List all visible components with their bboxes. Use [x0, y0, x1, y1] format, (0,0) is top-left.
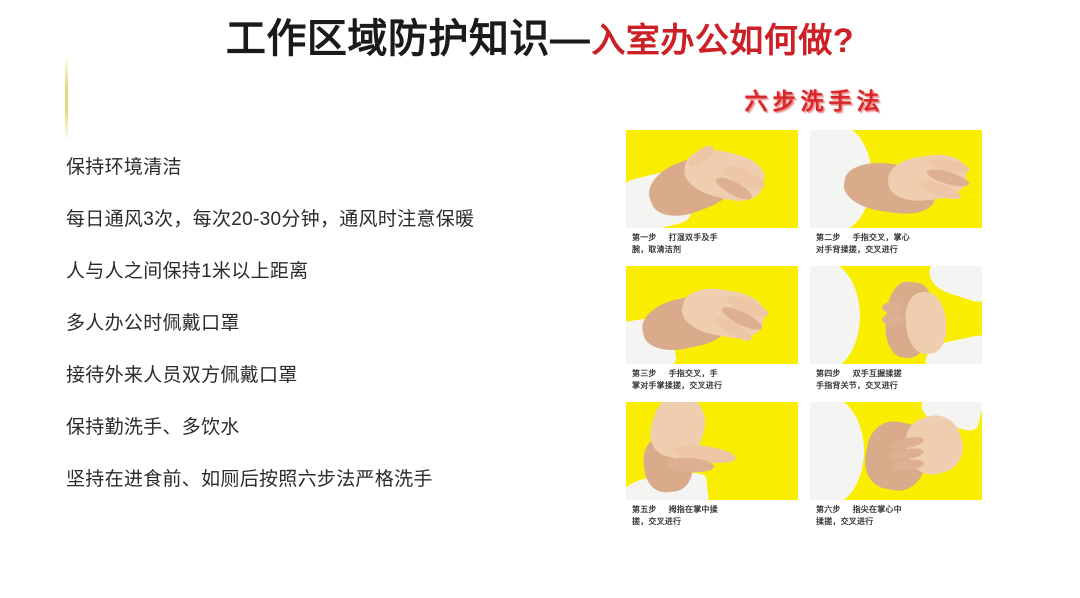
handwashing-caption-1: 第一步打湿双手及手 腕，取清洁剂: [626, 228, 798, 260]
step-label: 第四步: [816, 369, 841, 378]
handwashing-step-2: 第二步手指交叉，掌心 对手背揉搓，交叉进行: [810, 130, 982, 260]
list-item: 每日通风3次，每次20-30分钟，通风时注意保暖: [66, 210, 596, 229]
poster-title: 六步洗手法: [612, 82, 1012, 113]
step-label: 第六步: [816, 505, 841, 514]
handwashing-step-1: 第一步打湿双手及手 腕，取清洁剂: [626, 130, 798, 260]
list-item: 接待外来人员双方佩戴口罩: [66, 366, 596, 385]
list-item: 人与人之间保持1米以上距离: [66, 262, 596, 281]
handwashing-caption-4: 第四步双手互握揉搓 手指背关节，交叉进行: [810, 364, 982, 396]
page-title-main: 工作区域防护知识—: [226, 19, 591, 59]
handwashing-caption-5: 第五步拇指在掌中揉 搓，交叉进行: [626, 500, 798, 532]
handwashing-step-grid: 第一步打湿双手及手 腕，取清洁剂 第二步手指交叉，掌心 对手背揉搓，交叉进行: [626, 130, 982, 532]
step-text-line2: 腕，取清洁剂: [632, 245, 681, 254]
handwashing-photo-4: [810, 266, 982, 364]
guidance-list: 保持环境清洁 每日通风3次，每次20-30分钟，通风时注意保暖 人与人之间保持1…: [66, 158, 596, 489]
page-title: 工作区域防护知识—入室办公如何做?: [0, 8, 1080, 70]
handwashing-photo-1: [626, 130, 798, 228]
handwashing-photo-6: [810, 402, 982, 500]
step-text-line2: 手指背关节，交叉进行: [816, 381, 898, 390]
handwashing-caption-6: 第六步指尖在掌心中 揉搓，交叉进行: [810, 500, 982, 532]
step-text-line2: 掌对手掌揉搓，交叉进行: [632, 381, 722, 390]
list-item: 保持勤洗手、多饮水: [66, 418, 596, 437]
step-text-line1: 手指交叉，手: [669, 369, 718, 378]
step-text-line1: 拇指在掌中揉: [669, 505, 718, 514]
handwashing-photo-3: [626, 266, 798, 364]
handwashing-caption-2: 第二步手指交叉，掌心 对手背揉搓，交叉进行: [810, 228, 982, 260]
page-title-accent: 入室办公如何做?: [591, 24, 854, 58]
handwashing-step-4: 第四步双手互握揉搓 手指背关节，交叉进行: [810, 266, 982, 396]
handwashing-step-6: 第六步指尖在掌心中 揉搓，交叉进行: [810, 402, 982, 532]
step-label: 第五步: [632, 505, 657, 514]
handwashing-photo-2: [810, 130, 982, 228]
step-text-line2: 搓，交叉进行: [632, 517, 681, 526]
step-text-line1: 手指交叉，掌心: [853, 233, 910, 242]
step-text-line2: 揉搓，交叉进行: [816, 517, 873, 526]
handwashing-poster: 六步洗手法 第一步打湿双手及手 腕，取清洁剂: [612, 82, 1012, 582]
list-item: 多人办公时佩戴口罩: [66, 314, 596, 333]
step-text-line1: 双手互握揉搓: [853, 369, 902, 378]
step-label: 第三步: [632, 369, 657, 378]
handwashing-photo-5: [626, 402, 798, 500]
list-item: 保持环境清洁: [66, 158, 596, 177]
slide-canvas: 工作区域防护知识—入室办公如何做? 保持环境清洁 每日通风3次，每次20-30分…: [0, 0, 1080, 598]
handwashing-step-5: 第五步拇指在掌中揉 搓，交叉进行: [626, 402, 798, 532]
step-label: 第二步: [816, 233, 841, 242]
list-item: 坚持在进食前、如厕后按照六步法严格洗手: [66, 470, 596, 489]
handwashing-caption-3: 第三步手指交叉，手 掌对手掌揉搓，交叉进行: [626, 364, 798, 396]
handwashing-step-3: 第三步手指交叉，手 掌对手掌揉搓，交叉进行: [626, 266, 798, 396]
step-text-line1: 指尖在掌心中: [853, 505, 902, 514]
decorative-accent-bar: [65, 58, 68, 140]
step-text-line1: 打湿双手及手: [669, 233, 718, 242]
step-label: 第一步: [632, 233, 657, 242]
step-text-line2: 对手背揉搓，交叉进行: [816, 245, 898, 254]
